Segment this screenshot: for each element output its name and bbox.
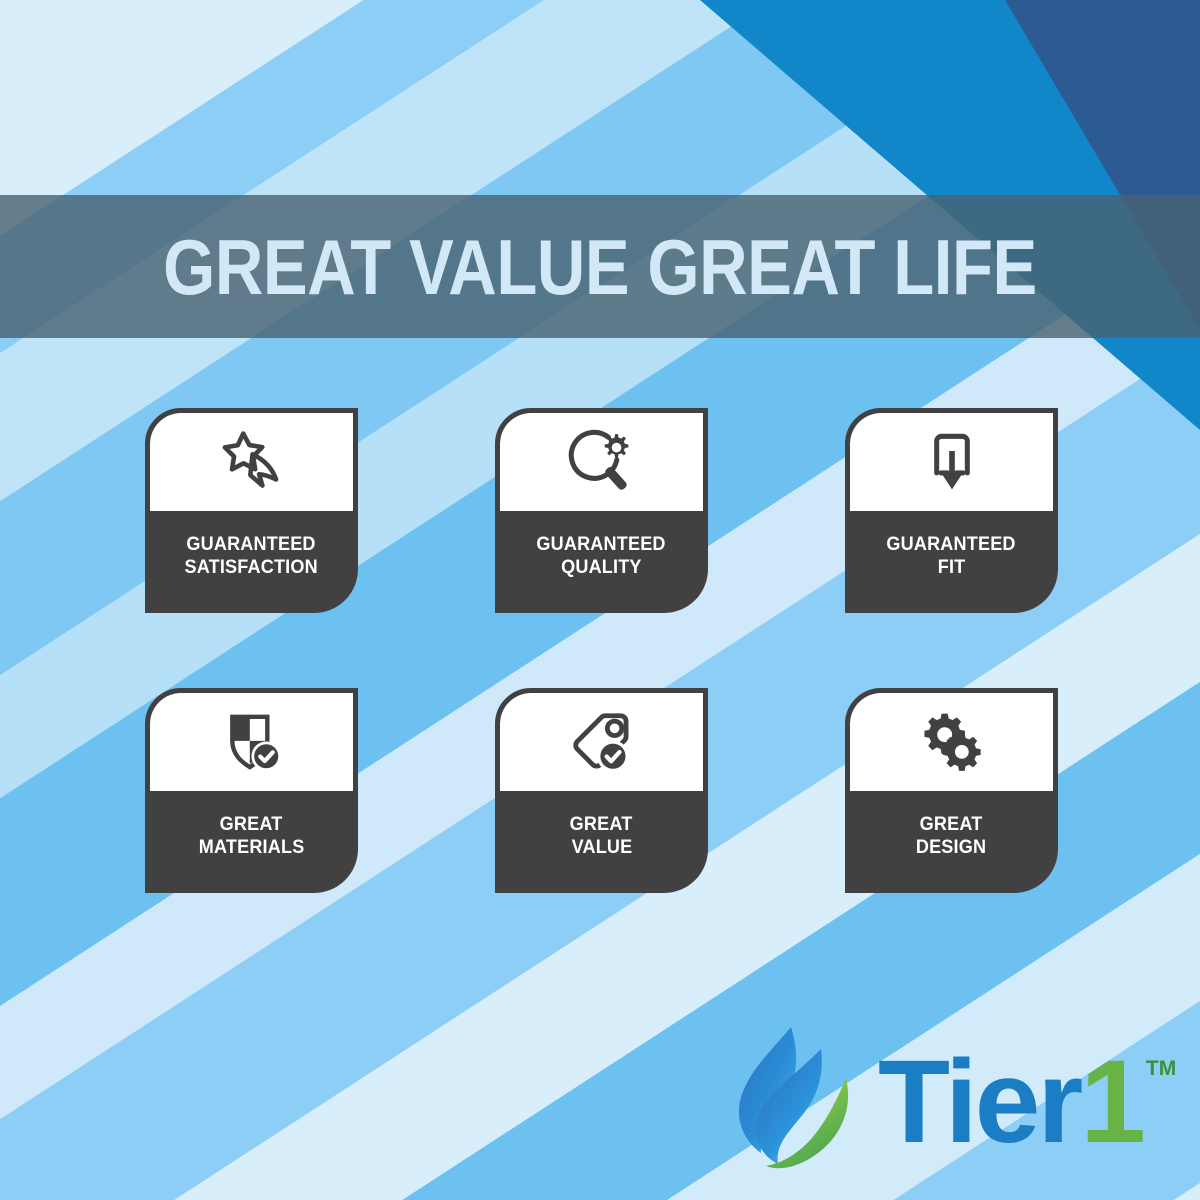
card-icon-panel xyxy=(850,413,1053,511)
card-icon-panel xyxy=(850,693,1053,791)
page-title: GREAT VALUE GREAT LIFE xyxy=(163,228,1037,306)
tier1-droplet-leaf-icon xyxy=(722,1023,872,1181)
trademark-symbol: TM xyxy=(1146,1057,1176,1081)
logo-word-one: 1 xyxy=(1080,1043,1144,1161)
card-label-line1: GUARANTEED xyxy=(537,534,666,556)
card-label-line1: GREAT xyxy=(220,814,283,836)
feature-card-guaranteed-fit[interactable]: GUARANTEED FIT xyxy=(845,408,1058,613)
card-label-line2: FIT xyxy=(938,557,966,579)
card-label-line2: QUALITY xyxy=(561,557,642,579)
feature-card-guaranteed-satisfaction[interactable]: GUARANTEED SATISFACTION xyxy=(145,408,358,613)
card-label-line1: GUARANTEED xyxy=(887,534,1016,556)
card-label: GUARANTEED QUALITY xyxy=(500,511,703,608)
card-icon-panel xyxy=(500,413,703,511)
card-label: GREAT VALUE xyxy=(500,791,703,888)
card-label-line2: DESIGN xyxy=(916,837,986,859)
card-icon-panel xyxy=(500,693,703,791)
brand-logo: Tier 1 TM xyxy=(722,1022,1162,1182)
price-tag-check-icon xyxy=(567,707,637,777)
headline-banner: GREAT VALUE GREAT LIFE xyxy=(0,195,1200,338)
card-label-line1: GUARANTEED xyxy=(187,534,316,556)
box-down-arrow-icon xyxy=(917,427,987,497)
card-label: GUARANTEED FIT xyxy=(850,511,1053,608)
card-icon-panel xyxy=(150,413,353,511)
card-label-line2: MATERIALS xyxy=(199,837,305,859)
card-icon-panel xyxy=(150,693,353,791)
card-label: GUARANTEED SATISFACTION xyxy=(150,511,353,608)
feature-card-guaranteed-quality[interactable]: GUARANTEED QUALITY xyxy=(495,408,708,613)
logo-word-tier: Tier xyxy=(878,1043,1080,1161)
feature-card-great-materials[interactable]: GREAT MATERIALS xyxy=(145,688,358,893)
card-label-line1: GREAT xyxy=(570,814,633,836)
card-label-line1: GREAT xyxy=(920,814,983,836)
feature-card-great-value[interactable]: GREAT VALUE xyxy=(495,688,708,893)
promotional-poster: GREAT VALUE GREAT LIFE GUARANTEED SATISF… xyxy=(0,0,1200,1200)
gears-icon xyxy=(917,707,987,777)
card-label: GREAT MATERIALS xyxy=(150,791,353,888)
shooting-star-icon xyxy=(217,427,287,497)
card-label-line2: VALUE xyxy=(571,837,632,859)
feature-card-great-design[interactable]: GREAT DESIGN xyxy=(845,688,1058,893)
feature-card-grid: GUARANTEED SATISFACTION GUARANTEED QUALI… xyxy=(145,408,1070,893)
logo-wordmark: Tier 1 TM xyxy=(878,1043,1176,1161)
shield-check-icon xyxy=(217,707,287,777)
card-label-line2: SATISFACTION xyxy=(185,557,318,579)
card-label: GREAT DESIGN xyxy=(850,791,1053,888)
magnifier-gear-icon xyxy=(567,427,637,497)
